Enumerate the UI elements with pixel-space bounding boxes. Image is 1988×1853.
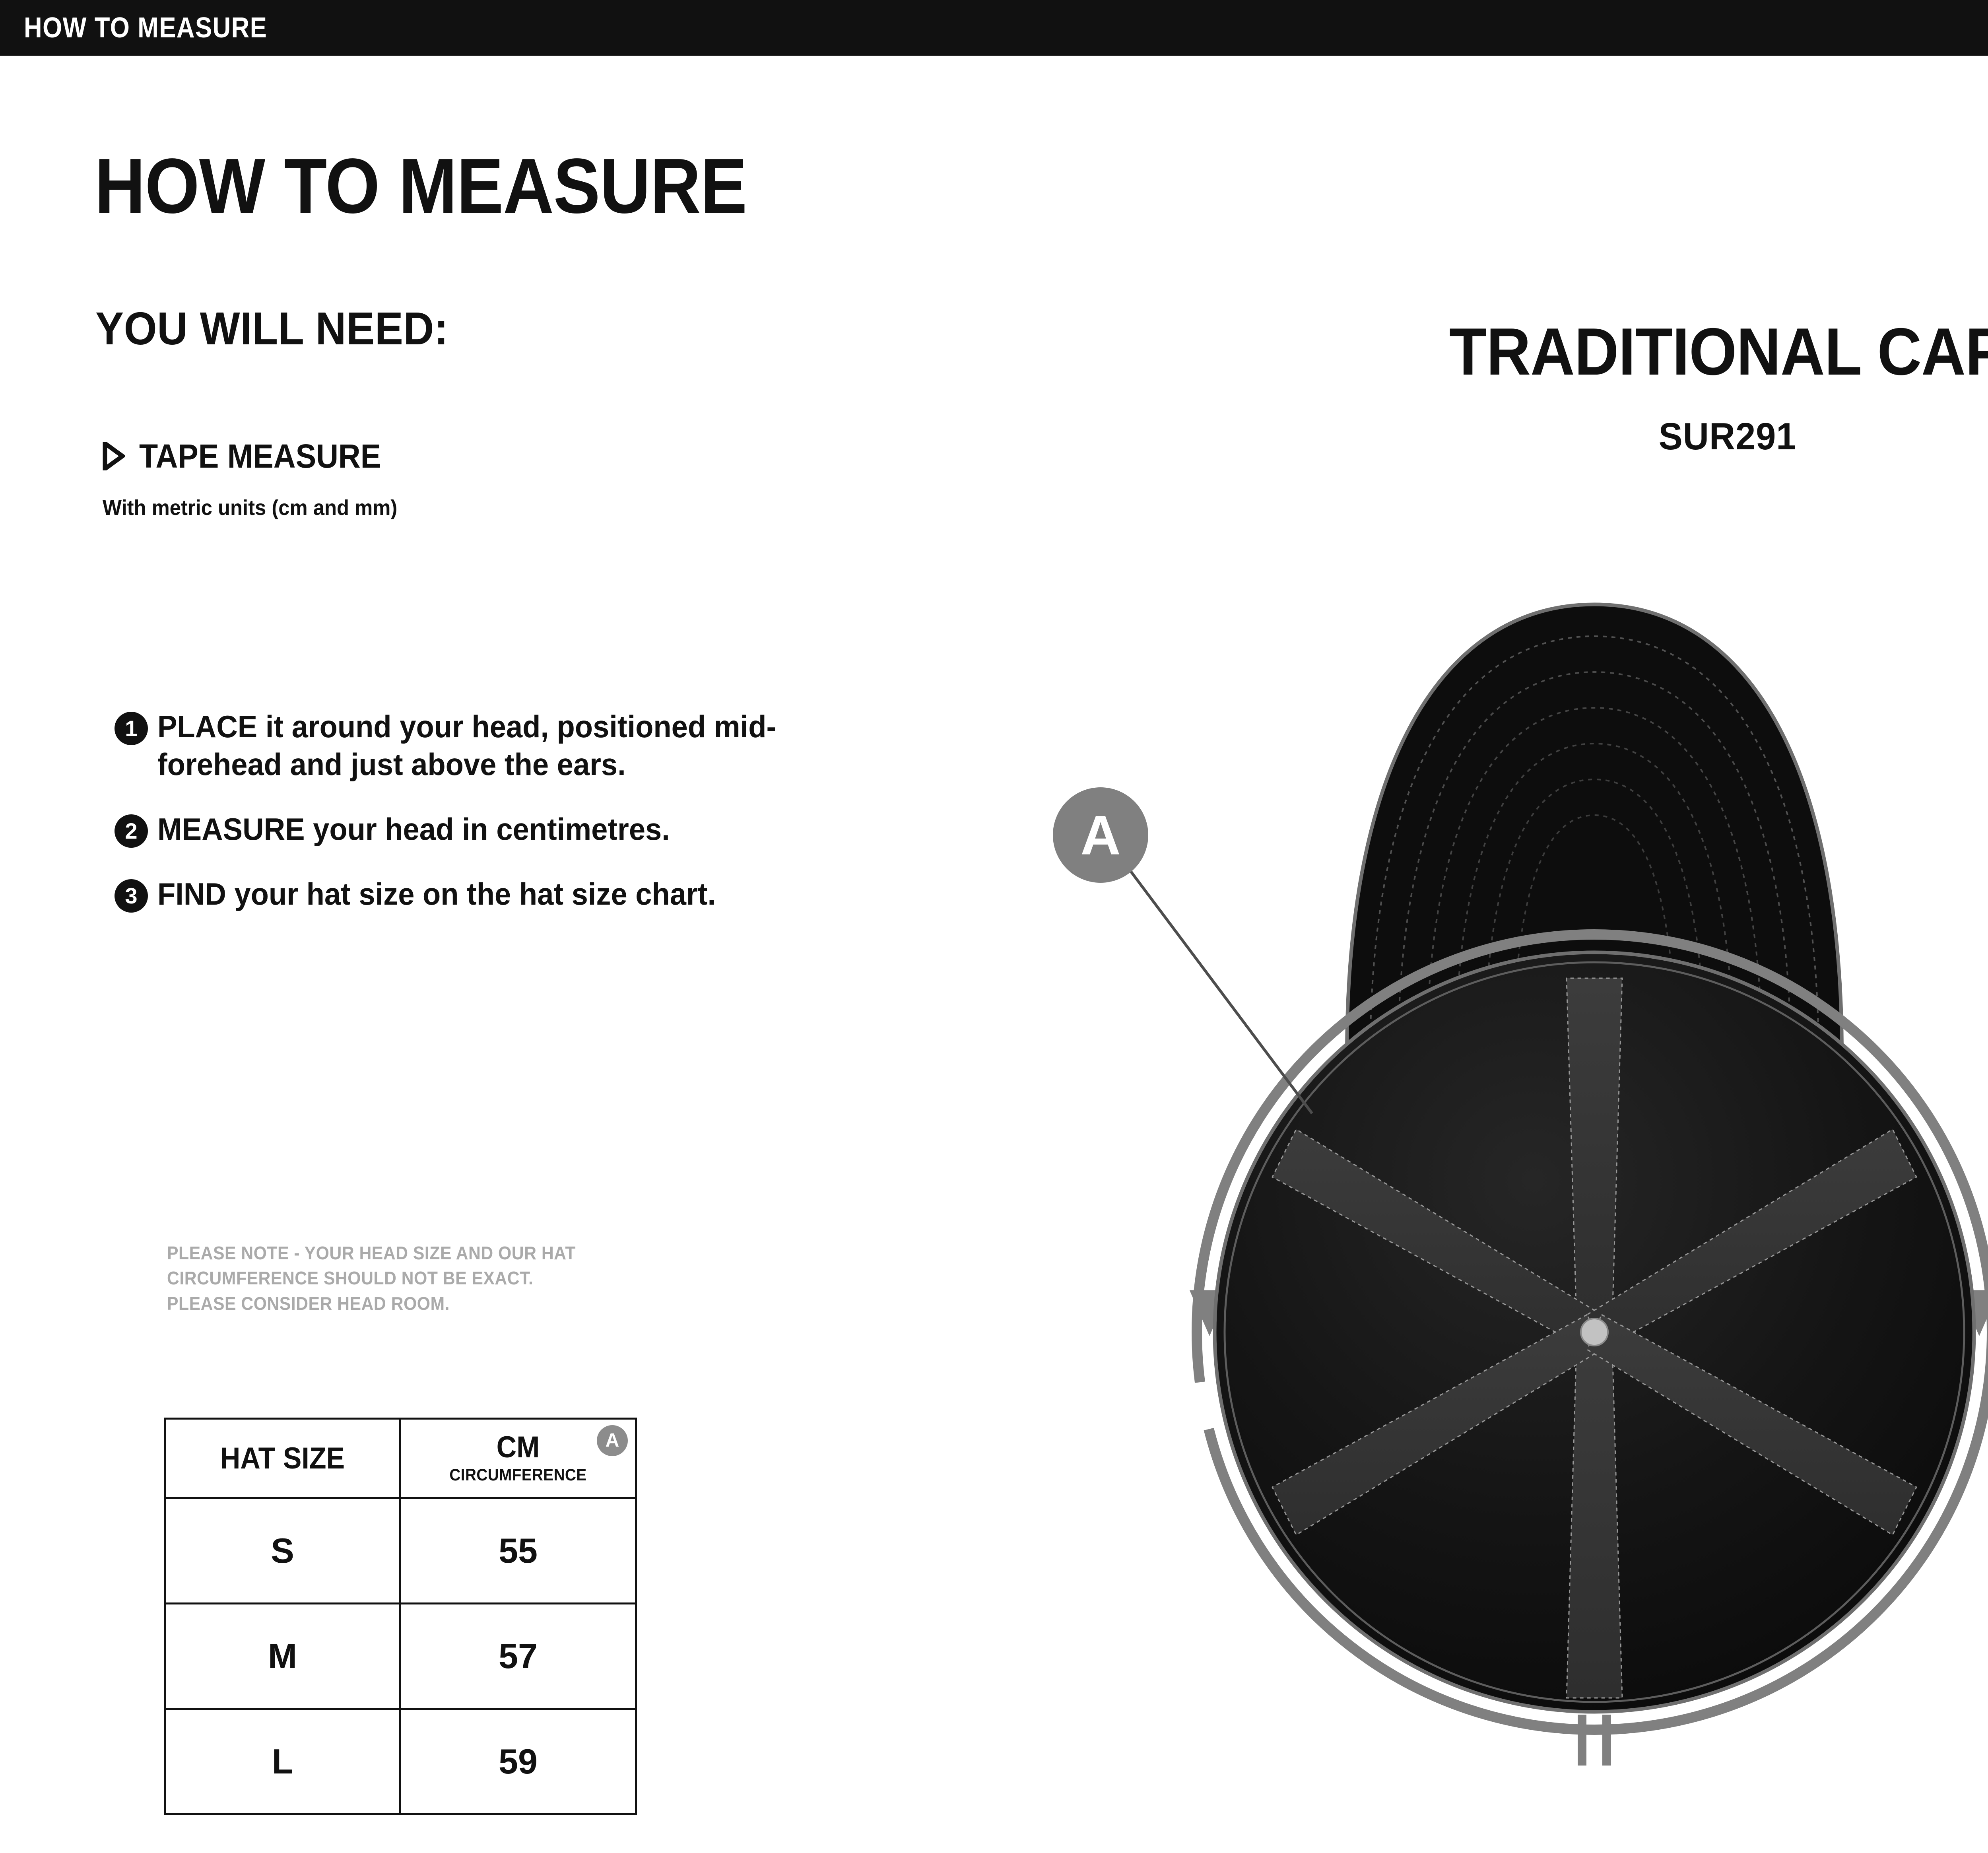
product-code: SUR291: [1276, 418, 1988, 456]
cell-value: 59: [401, 1744, 635, 1779]
step-text: FIND your hat size on the hat size chart…: [157, 875, 716, 913]
step-number-badge: 2: [115, 814, 148, 848]
product-name: TRADITIONAL CAP: [1285, 318, 1988, 385]
tool-requirement-row: TAPE MEASURE: [103, 439, 402, 473]
crown-centre-button: [1581, 1319, 1608, 1346]
measurement-a-badge: A: [597, 1425, 628, 1456]
triangle-right-outline-icon: [103, 442, 125, 470]
column-header-label: HAT SIZE: [175, 1443, 390, 1474]
cell-value: S: [166, 1533, 399, 1568]
cell-value: M: [166, 1639, 399, 1674]
top-header-bar: HOW TO MEASURE SURRIDGE: [0, 0, 1988, 56]
cell-hat-size: S: [165, 1498, 400, 1604]
step-number-badge: 3: [115, 879, 148, 913]
steps-list: 1 PLACE it around your head, positioned …: [115, 708, 870, 940]
step-item: 3 FIND your hat size on the hat size cha…: [115, 875, 870, 913]
column-header-sub-label: CIRCUMFERENCE: [411, 1466, 626, 1484]
tool-label: TAPE MEASURE: [139, 439, 381, 473]
hat-size-chart-table: HAT SIZE CM CIRCUMFERENCE A S 55 M 57 L …: [164, 1418, 637, 1815]
cell-hat-size: M: [165, 1604, 400, 1709]
step-text: MEASURE your head in centimetres.: [157, 810, 670, 848]
column-header-label: CM: [411, 1432, 626, 1463]
step-item: 1 PLACE it around your head, positioned …: [115, 708, 870, 783]
header-title: HOW TO MEASURE: [24, 14, 267, 42]
callout-a-label: A: [1080, 804, 1120, 866]
column-header-hat-size: HAT SIZE: [165, 1419, 400, 1498]
page-title: HOW TO MEASURE: [95, 147, 747, 225]
table-row: L 59: [165, 1709, 636, 1814]
cell-value: 57: [401, 1639, 635, 1674]
cap-crown: [1215, 952, 1974, 1712]
table-header-row: HAT SIZE CM CIRCUMFERENCE A: [165, 1419, 636, 1498]
callout-a: A: [1053, 787, 1312, 1113]
cell-cm: 57: [400, 1604, 636, 1709]
cap-diagram: A: [1034, 557, 1988, 1853]
please-note-text: PLEASE NOTE - YOUR HEAD SIZE AND OUR HAT…: [167, 1241, 576, 1316]
table-row: M 57: [165, 1604, 636, 1709]
how-to-measure-page: HOW TO MEASURE SURRIDGE HOW TO MEASURE Y…: [0, 0, 1988, 1853]
step-item: 2 MEASURE your head in centimetres.: [115, 810, 870, 848]
step-number-badge: 1: [115, 712, 148, 745]
cell-value: L: [166, 1744, 399, 1779]
cell-cm: 55: [400, 1498, 636, 1604]
cell-hat-size: L: [165, 1709, 400, 1814]
tool-sub-label: With metric units (cm and mm): [103, 497, 397, 519]
step-text: PLACE it around your head, positioned mi…: [157, 708, 807, 783]
you-will-need-heading: YOU WILL NEED:: [95, 305, 448, 352]
column-header-cm: CM CIRCUMFERENCE A: [400, 1419, 636, 1498]
cell-cm: 59: [400, 1709, 636, 1814]
cell-value: 55: [401, 1533, 635, 1568]
table-row: S 55: [165, 1498, 636, 1604]
callout-leader-line: [1124, 863, 1312, 1113]
